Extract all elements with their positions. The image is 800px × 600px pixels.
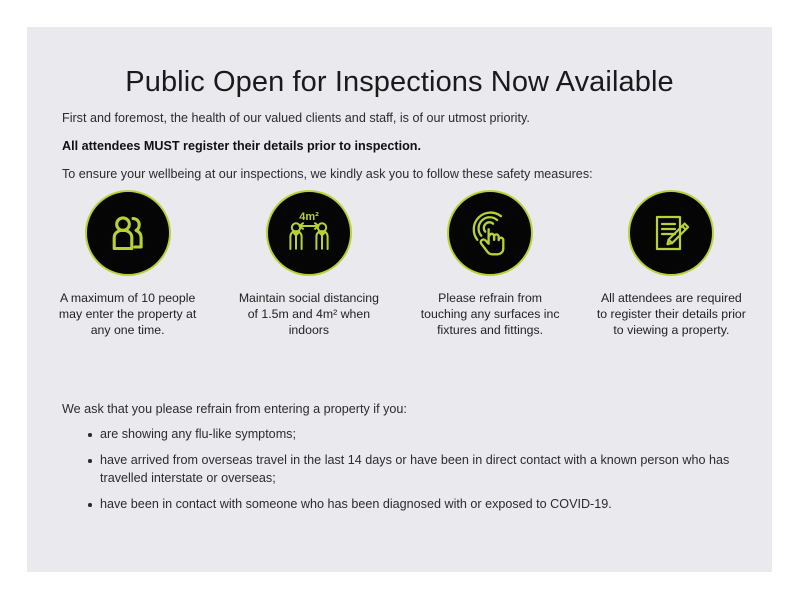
- measure-item: Please refrain from touching any surface…: [405, 190, 575, 339]
- exclusion-list: are showing any flu-like symptoms; have …: [62, 426, 752, 514]
- measure-item: All attendees are required to register t…: [586, 190, 756, 339]
- intro-block: First and foremost, the health of our va…: [62, 110, 742, 194]
- poster-panel: Public Open for Inspections Now Availabl…: [27, 27, 772, 572]
- list-item: have arrived from overseas travel in the…: [62, 452, 752, 487]
- list-item: are showing any flu-like symptoms;: [62, 426, 752, 443]
- intro-line-1: First and foremost, the health of our va…: [62, 110, 742, 127]
- measure-caption: All attendees are required to register t…: [596, 290, 746, 339]
- social-distancing-icon: 4m²: [266, 190, 352, 276]
- document-pencil-icon: [628, 190, 714, 276]
- no-touch-hand-icon: [447, 190, 533, 276]
- exclusion-lead: We ask that you please refrain from ente…: [62, 401, 752, 418]
- page-title: Public Open for Inspections Now Availabl…: [27, 67, 772, 99]
- svg-text:4m²: 4m²: [299, 211, 319, 223]
- measure-caption: A maximum of 10 people may enter the pro…: [53, 290, 203, 339]
- measure-caption: Please refrain from touching any surface…: [415, 290, 565, 339]
- safety-measures-row: A maximum of 10 people may enter the pro…: [37, 190, 762, 339]
- measure-item: 4m² Maintain social distancing of 1.5m a…: [224, 190, 394, 339]
- intro-line-2-bold: All attendees MUST register their detail…: [62, 138, 742, 155]
- measure-caption: Maintain social distancing of 1.5m and 4…: [234, 290, 384, 339]
- intro-line-3: To ensure your wellbeing at our inspecti…: [62, 166, 742, 183]
- measure-item: A maximum of 10 people may enter the pro…: [43, 190, 213, 339]
- exclusion-block: We ask that you please refrain from ente…: [62, 401, 752, 523]
- two-people-icon: [85, 190, 171, 276]
- list-item: have been in contact with someone who ha…: [62, 496, 752, 513]
